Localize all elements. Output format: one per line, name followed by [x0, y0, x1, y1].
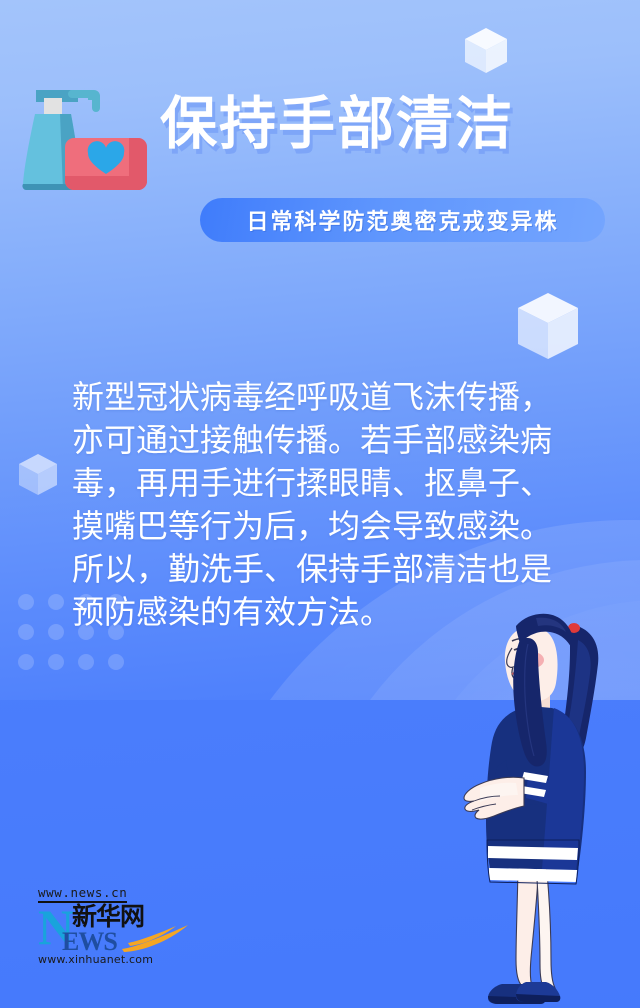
- dot: [48, 594, 64, 610]
- poster-root: 保持手部清洁 日常科学防范奥密克戎变异株 新型冠状病毒经呼吸道飞沫传播， 亦可通…: [0, 0, 640, 1008]
- dot: [48, 654, 64, 670]
- cube-mid-right-icon: [515, 290, 581, 362]
- body-line: 新型冠状病毒经呼吸道飞沫传播，: [72, 376, 612, 419]
- subtitle-text: 日常科学防范奥密克戎变异株: [246, 204, 558, 236]
- subtitle-pill: 日常科学防范奥密克戎变异株: [200, 198, 605, 242]
- dot: [78, 654, 94, 670]
- body-line: 亦可通过接触传播。若手部感染病: [72, 419, 612, 462]
- logo-main: N 新华网 EWS: [38, 905, 218, 953]
- dot: [18, 654, 34, 670]
- soap-dispenser-icon: [8, 72, 168, 204]
- cube-top-right-icon: [463, 26, 509, 76]
- dot: [108, 654, 124, 670]
- woman-washing-hands-illustration: [432, 596, 640, 1008]
- body-line: 摸嘴巴等行为后，均会导致感染。: [72, 505, 612, 548]
- dot: [18, 624, 34, 640]
- dot: [18, 594, 34, 610]
- logo-swoosh-icon: [118, 923, 190, 953]
- body-line: 毒，再用手进行揉眼睛、抠鼻子、: [72, 462, 612, 505]
- body-line: 所以，勤洗手、保持手部清洁也是: [72, 548, 612, 591]
- xinhua-logo[interactable]: www.news.cn N 新华网 EWS www.xinhuanet.com: [38, 884, 218, 968]
- page-title: 保持手部清洁: [160, 96, 620, 153]
- cube-left-icon: [17, 452, 59, 498]
- logo-letters-ews: EWS: [62, 929, 117, 955]
- dot: [48, 624, 64, 640]
